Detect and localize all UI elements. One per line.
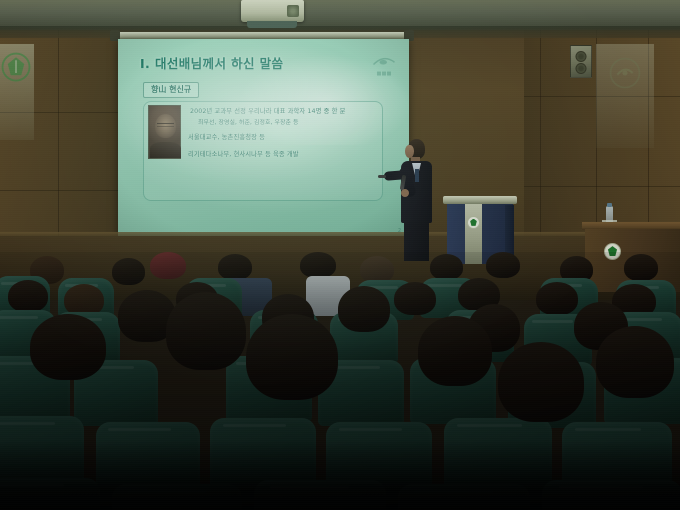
- wall-speaker-icon: [570, 45, 592, 78]
- auditorium-seat: [398, 484, 530, 510]
- leaf-emblem-icon: [467, 216, 480, 229]
- speaker-driver: [576, 63, 587, 74]
- slide-bullet: 2002년 교과부 선정 우리나라 대표 과학자 14명 중 한 분: [190, 106, 346, 115]
- institution-logo-icon: [608, 56, 642, 90]
- wall-seam: [524, 186, 680, 187]
- projector-lens-icon: [287, 5, 299, 17]
- screen-mount-bar: [113, 32, 410, 39]
- slide-bullet: 리기테다소나무, 현사시나무 등 육종 개발: [188, 149, 299, 158]
- audience-head: [300, 252, 336, 278]
- projector-base: [247, 21, 297, 28]
- audience-head: [218, 254, 252, 280]
- audience-head: [536, 282, 578, 315]
- slide-bullet: 최무선, 장영실, 허준, 김정호, 우장춘 등: [198, 117, 299, 126]
- projection-screen: ■■■ Ⅰ. 대선배님께서 하신 말씀 향山 현신규 2002년 교과부 선정 …: [118, 39, 409, 240]
- auditorium-seat: [112, 484, 242, 510]
- podium-top-surface: [443, 196, 517, 204]
- speaker-driver: [576, 51, 587, 62]
- portrait-shoulders: [150, 142, 181, 158]
- leaf-shape: [470, 219, 478, 227]
- audience-head: [246, 314, 338, 400]
- audience-head: [360, 256, 394, 283]
- audience-head: [418, 316, 492, 386]
- slide-bullet: 서울대교수, 농촌진흥청장 등: [188, 132, 265, 141]
- audience-head: [596, 326, 674, 398]
- laser-pointer-icon: [378, 175, 386, 178]
- slide-portrait-photo: [148, 105, 181, 159]
- institution-logo-icon: [1, 52, 31, 82]
- audience-head: [624, 254, 658, 281]
- slide-corner-logo-icon: ■■■: [368, 48, 400, 78]
- svg-text:■■■: ■■■: [377, 71, 392, 77]
- slide-title: Ⅰ. 대선배님께서 하신 말씀: [140, 53, 283, 72]
- lecture-hall-photo: ■■■ Ⅰ. 대선배님께서 하신 말씀 향山 현신규 2002년 교과부 선정 …: [0, 0, 680, 510]
- slide-subtitle-box: 향山 현신규: [143, 82, 199, 98]
- wall-seam: [0, 190, 120, 191]
- presenter: [396, 139, 440, 261]
- ceiling-projector: [241, 0, 304, 22]
- portrait-glasses: [157, 123, 174, 127]
- audience-head: [166, 292, 246, 370]
- auditorium-seat: [0, 478, 100, 510]
- audience-area: [0, 252, 680, 510]
- audience-head: [112, 258, 145, 285]
- audience-head: [150, 252, 186, 279]
- audience-head: [338, 286, 390, 332]
- auditorium-seat: [254, 480, 386, 510]
- audience-head: [30, 314, 106, 380]
- audience-head: [498, 342, 584, 422]
- audience-head: [394, 282, 436, 315]
- bottle-cap-icon: [607, 203, 612, 207]
- audience-head: [8, 280, 48, 312]
- presenter-hand: [401, 189, 409, 197]
- audience-head: [486, 252, 520, 278]
- auditorium-seat: [542, 480, 680, 510]
- audience-head: [430, 254, 463, 280]
- presenter-tie: [415, 169, 419, 182]
